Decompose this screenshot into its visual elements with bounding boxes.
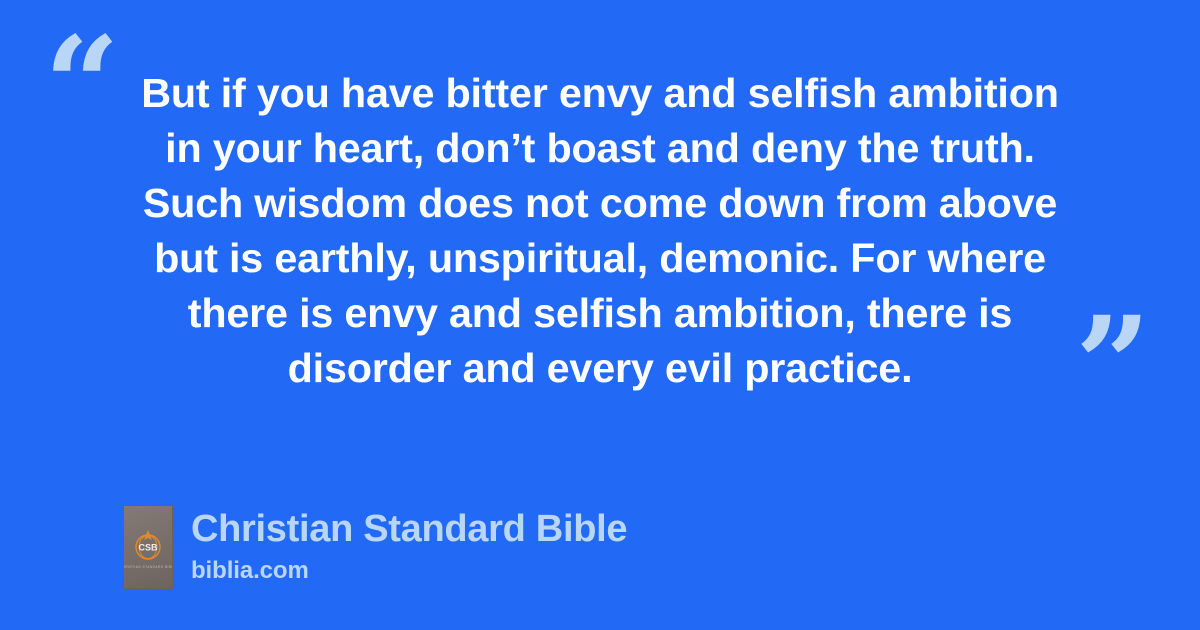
quote-line: but is earthly, unspiritual, demonic. Fo… xyxy=(86,231,1114,286)
attribution-text: Christian Standard Bible biblia.com xyxy=(191,505,627,586)
quote-line: But if you have bitter envy and selfish … xyxy=(86,66,1114,121)
verse-quote-card: “ But if you have bitter envy and selfis… xyxy=(0,0,1200,630)
closing-quote-icon: ” xyxy=(1075,300,1151,432)
svg-text:CSB: CSB xyxy=(138,543,158,553)
quote-text-block: But if you have bitter envy and selfish … xyxy=(0,66,1200,396)
bible-translation-title: Christian Standard Bible xyxy=(191,507,627,551)
quote-line: in your heart, don’t boast and deny the … xyxy=(86,121,1114,176)
website-label[interactable]: biblia.com xyxy=(191,556,627,586)
quote-line: disorder and every evil practice. xyxy=(86,341,1114,396)
csb-emblem-icon: CSB xyxy=(131,528,165,562)
quote-line: Such wisdom does not come down from abov… xyxy=(86,176,1114,231)
quote-line: there is envy and selfish ambition, ther… xyxy=(86,286,1114,341)
book-cover-subtitle: CHRISTIAN STANDARD BIBLE xyxy=(123,566,173,570)
attribution-block: CSB CHRISTIAN STANDARD BIBLE Christian S… xyxy=(123,505,627,589)
csb-book-cover-thumbnail: CSB CHRISTIAN STANDARD BIBLE xyxy=(123,505,173,589)
